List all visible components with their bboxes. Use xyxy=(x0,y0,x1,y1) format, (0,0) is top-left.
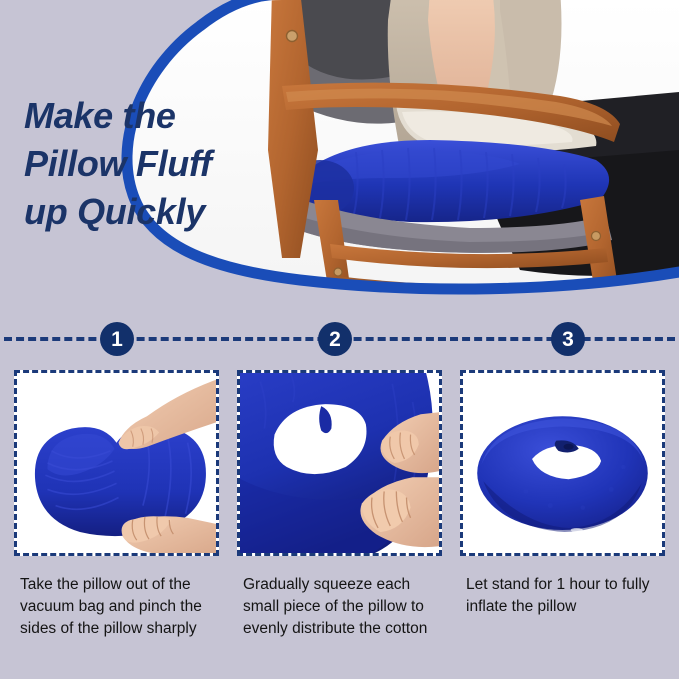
step-caption-3: Let stand for 1 hour to fully inflate th… xyxy=(460,574,665,618)
step-column-1: Take the pillow out of the vacuum bag an… xyxy=(14,370,219,670)
step-caption-2: Gradually squeeze each small piece of th… xyxy=(237,574,442,640)
steps-row: Take the pillow out of the vacuum bag an… xyxy=(0,370,679,670)
step-badge-2: 2 xyxy=(318,322,352,356)
step-column-3: Let stand for 1 hour to fully inflate th… xyxy=(460,370,665,670)
page-title: Make the Pillow Fluff up Quickly xyxy=(24,92,274,236)
step-photo-1 xyxy=(17,373,216,553)
headline-line-3: up Quickly xyxy=(24,188,274,236)
step-photo-3 xyxy=(463,373,662,553)
headline-line-2: Pillow Fluff xyxy=(24,140,274,188)
step-badge-3: 3 xyxy=(551,322,585,356)
step-badge-1: 1 xyxy=(100,322,134,356)
step-column-2: Gradually squeeze each small piece of th… xyxy=(237,370,442,670)
step-photo-frame-2 xyxy=(237,370,442,556)
infographic-root: Make the Pillow Fluff up Quickly 1 2 3 xyxy=(0,0,679,679)
step-photo-2 xyxy=(240,373,439,553)
step-photo-frame-1 xyxy=(14,370,219,556)
headline-line-1: Make the xyxy=(24,92,274,140)
step-photo-frame-3 xyxy=(460,370,665,556)
step-caption-1: Take the pillow out of the vacuum bag an… xyxy=(14,574,219,640)
step-divider: 1 2 3 xyxy=(0,322,679,356)
